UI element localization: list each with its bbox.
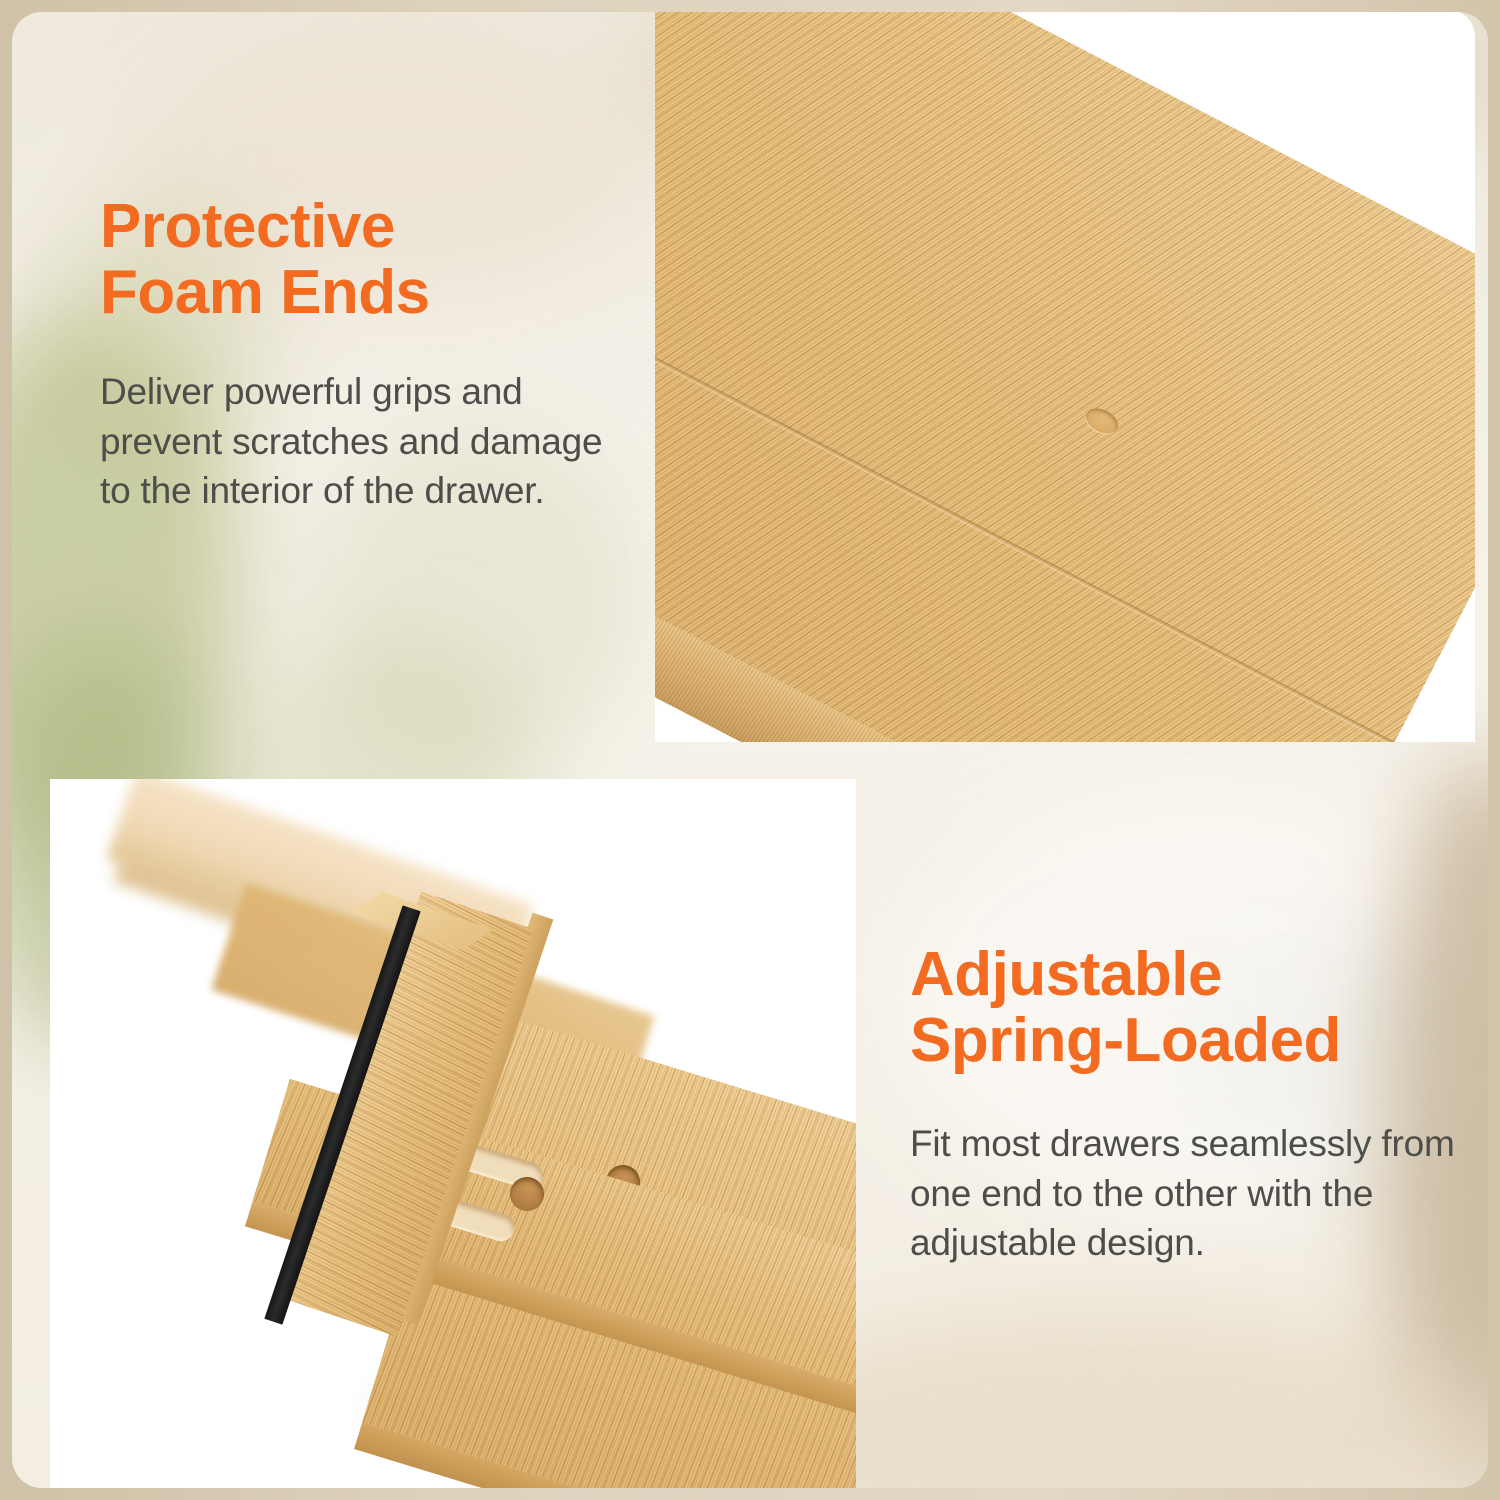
- bamboo-board-illustration: [655, 12, 1475, 742]
- heading-line-2: Foam Ends: [100, 258, 430, 327]
- product-photo-panel-spring-loaded: [50, 779, 856, 1488]
- feature-heading-foam-ends: Protective Foam Ends: [100, 194, 640, 325]
- board-top-face: [655, 12, 1475, 742]
- feature-text-spring-loaded: Adjustable Spring-Loaded Fit most drawer…: [910, 942, 1470, 1267]
- heading-line-1: Protective: [100, 192, 395, 261]
- feature-description-foam-ends: Deliver powerful grips and prevent scrat…: [100, 367, 640, 515]
- infographic-canvas: Protective Foam Ends Deliver powerful gr…: [0, 0, 1500, 1500]
- product-photo-panel-foam-ends: [655, 12, 1475, 742]
- feature-text-foam-ends: Protective Foam Ends Deliver powerful gr…: [100, 194, 640, 515]
- background-plate: Protective Foam Ends Deliver powerful gr…: [12, 12, 1488, 1488]
- heading-line-1: Adjustable: [910, 940, 1222, 1009]
- feature-description-spring-loaded: Fit most drawers seamlessly from one end…: [910, 1119, 1470, 1267]
- divider-exploded-illustration: [50, 779, 856, 1488]
- feature-heading-spring-loaded: Adjustable Spring-Loaded: [910, 942, 1470, 1073]
- heading-line-2: Spring-Loaded: [910, 1006, 1341, 1075]
